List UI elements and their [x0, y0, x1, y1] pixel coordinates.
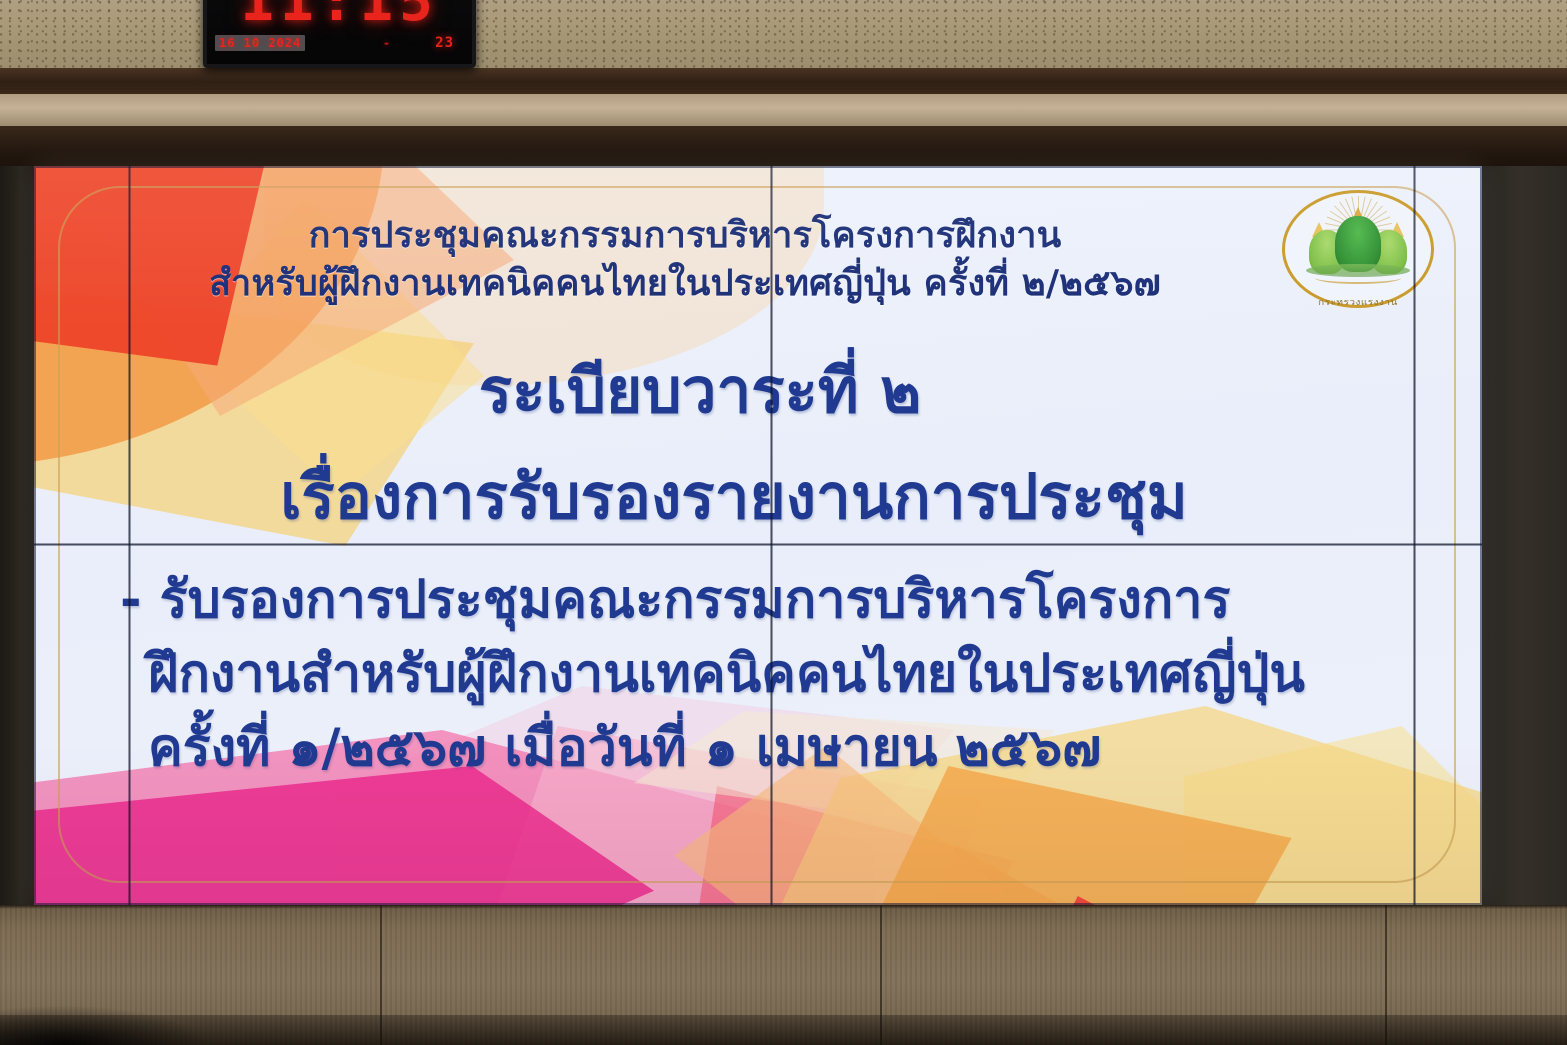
- wood-trim-upper-dark: [0, 68, 1567, 94]
- clock-time-display: 11:15: [207, 0, 472, 32]
- wood-trim-light: [0, 94, 1567, 126]
- meeting-room-scene: 11:15 16 10 2024 - 23: [0, 0, 1567, 1045]
- clock-secondary-row: 16 10 2024 - 23: [207, 30, 472, 56]
- bezel-seam-vertical-right: [1413, 166, 1416, 905]
- bullet-line-1: - รับรองการประชุมคณะกรรมการบริหารโครงการ: [74, 564, 1454, 638]
- bezel-seam-horizontal: [34, 543, 1482, 546]
- wood-panel-shadow: [0, 1015, 1567, 1045]
- wood-trim-lower-dark: [0, 126, 1567, 166]
- bullet-line-3: ครั้งที่ ๑/๒๕๖๗ เมื่อวันที่ ๑ เมษายน ๒๕๖…: [74, 712, 1454, 786]
- emblem-caption: กระทรวงแรงงาน: [1282, 296, 1434, 310]
- clock-date-display: 16 10 2024: [215, 35, 305, 51]
- bezel-seam-vertical-left: [128, 166, 131, 905]
- bullet-line-2: ฝึกงานสำหรับผู้ฝึกงานเทคนิคคนไทยในประเทศ…: [74, 638, 1454, 712]
- ministry-of-labour-emblem-icon: กระทรวงแรงงาน: [1282, 190, 1434, 308]
- wall-left-side: [0, 166, 34, 911]
- slide-content: การประชุมคณะกรรมการบริหารโครงการฝึกงาน ส…: [34, 166, 1482, 905]
- slide-title: การประชุมคณะกรรมการบริหารโครงการฝึกงาน ส…: [120, 212, 1250, 308]
- clock-dash-indicator: -: [383, 36, 391, 50]
- agenda-subject-heading: เรื่องการรับรองรายงานการประชุม: [34, 466, 1434, 528]
- presentation-slide: การประชุมคณะกรรมการบริหารโครงการฝึกงาน ส…: [34, 166, 1482, 905]
- slide-title-line-1: การประชุมคณะกรรมการบริหารโครงการฝึกงาน: [120, 212, 1250, 260]
- wood-panel-top-edge: [0, 905, 1567, 909]
- slide-title-line-2: สำหรับผู้ฝึกงานเทคนิคคนไทยในประเทศญี่ปุ่…: [120, 260, 1250, 308]
- bezel-seam-vertical-center: [770, 166, 773, 905]
- video-wall-display[interactable]: การประชุมคณะกรรมการบริหารโครงการฝึกงาน ส…: [34, 166, 1482, 905]
- agenda-bullet-block: - รับรองการประชุมคณะกรรมการบริหารโครงการ…: [74, 564, 1454, 785]
- foreground-shadow: [0, 1005, 210, 1045]
- agenda-item-heading: ระเบียบวาระที่ ๒: [34, 360, 1366, 422]
- wall-right-side: [1482, 166, 1567, 911]
- digital-clock: 11:15 16 10 2024 - 23: [203, 0, 476, 68]
- clock-temperature-display: 23: [435, 35, 454, 51]
